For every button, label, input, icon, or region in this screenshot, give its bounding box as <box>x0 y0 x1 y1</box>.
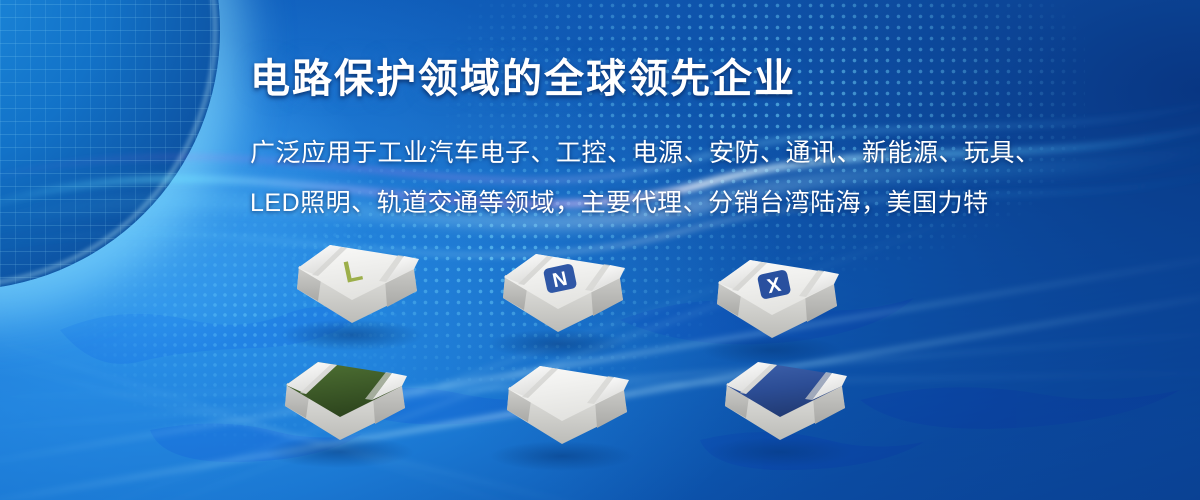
product-chip-x[interactable]: X <box>702 260 842 365</box>
chip-end-cap-right <box>812 373 847 400</box>
chip-badge-n <box>543 263 578 294</box>
globe-grid-overlay <box>0 0 220 290</box>
page-title: 电路保护领域的全球领先企业 <box>250 46 1150 104</box>
banner-copy: 电路保护领域的全球领先企业 广泛应用于工业汽车电子、工控、电源、安防、通讯、新能… <box>250 46 1150 227</box>
chip-front-face <box>503 277 623 332</box>
product-chip-plain[interactable] <box>490 366 634 471</box>
chip-badge-x <box>757 269 792 300</box>
chip-cap-front-right <box>595 383 627 428</box>
chip-end-cap-left <box>504 254 553 285</box>
chip-top-face <box>726 362 846 417</box>
product-chip-n[interactable]: N <box>488 254 628 359</box>
chip-cap-front-left <box>503 275 528 310</box>
chip-shadow <box>488 329 628 359</box>
chip-cap-front-left <box>717 281 742 316</box>
chip-end-cap-left <box>726 362 777 394</box>
chip-end-cap-left <box>286 362 337 394</box>
chip-top-face <box>718 260 838 315</box>
globe-graphic <box>0 0 220 290</box>
chip-marking-x: X <box>765 274 783 298</box>
chip-cap-front-right <box>373 379 405 424</box>
product-chip-green[interactable] <box>266 362 414 468</box>
chip-top-face <box>286 362 406 417</box>
product-chip-l[interactable]: L <box>280 245 424 351</box>
chip-front-face <box>297 268 417 323</box>
chip-end-cap-right <box>592 265 625 291</box>
chip-cap-front-left <box>285 383 310 418</box>
product-chip-blue[interactable] <box>708 362 852 467</box>
chip-cap-front-right <box>385 262 417 307</box>
chip-shadow <box>280 319 424 351</box>
chip-end-cap-right <box>372 373 407 400</box>
hero-banner: 电路保护领域的全球领先企业 广泛应用于工业汽车电子、工控、电源、安防、通讯、新能… <box>0 0 1200 500</box>
chip-cap-front-left <box>507 387 532 422</box>
banner-subtitle-line-1: 广泛应用于工业汽车电子、工控、电源、安防、通讯、新能源、玩具、 <box>250 130 1150 176</box>
chip-top-face <box>508 366 628 421</box>
chip-cap-front-left <box>725 383 750 418</box>
chip-end-cap-right <box>386 256 419 282</box>
chip-marking-n: N <box>551 268 570 293</box>
chip-front-band <box>740 377 812 398</box>
chip-front-face <box>725 385 845 440</box>
chip-front-face <box>285 385 405 440</box>
chip-end-cap-left <box>298 245 347 276</box>
chip-cap-front-right <box>591 271 623 316</box>
chip-front-face <box>507 389 627 444</box>
chip-cap-front-right <box>813 379 845 424</box>
chip-end-cap-right <box>594 377 629 404</box>
chip-top-face <box>504 254 624 309</box>
globe-rim-glow <box>0 0 216 286</box>
chip-cap-front-left <box>297 266 322 301</box>
chip-top-face <box>298 245 418 300</box>
chip-shadow <box>266 436 414 468</box>
banner-subtitle-line-2: LED照明、轨道交通等领域，主要代理、分销台湾陆海，美国力特 <box>250 180 1150 226</box>
chip-shadow <box>708 437 852 467</box>
chip-front-band <box>299 376 372 398</box>
chip-front-face <box>717 283 837 338</box>
chip-marking-l: L <box>341 254 366 290</box>
chip-end-cap-right <box>806 271 839 297</box>
chip-shadow <box>490 441 634 471</box>
chip-end-cap-left <box>508 366 558 398</box>
chip-cap-front-right <box>805 277 837 322</box>
chip-shadow <box>702 335 842 365</box>
chip-end-cap-left <box>718 260 767 291</box>
